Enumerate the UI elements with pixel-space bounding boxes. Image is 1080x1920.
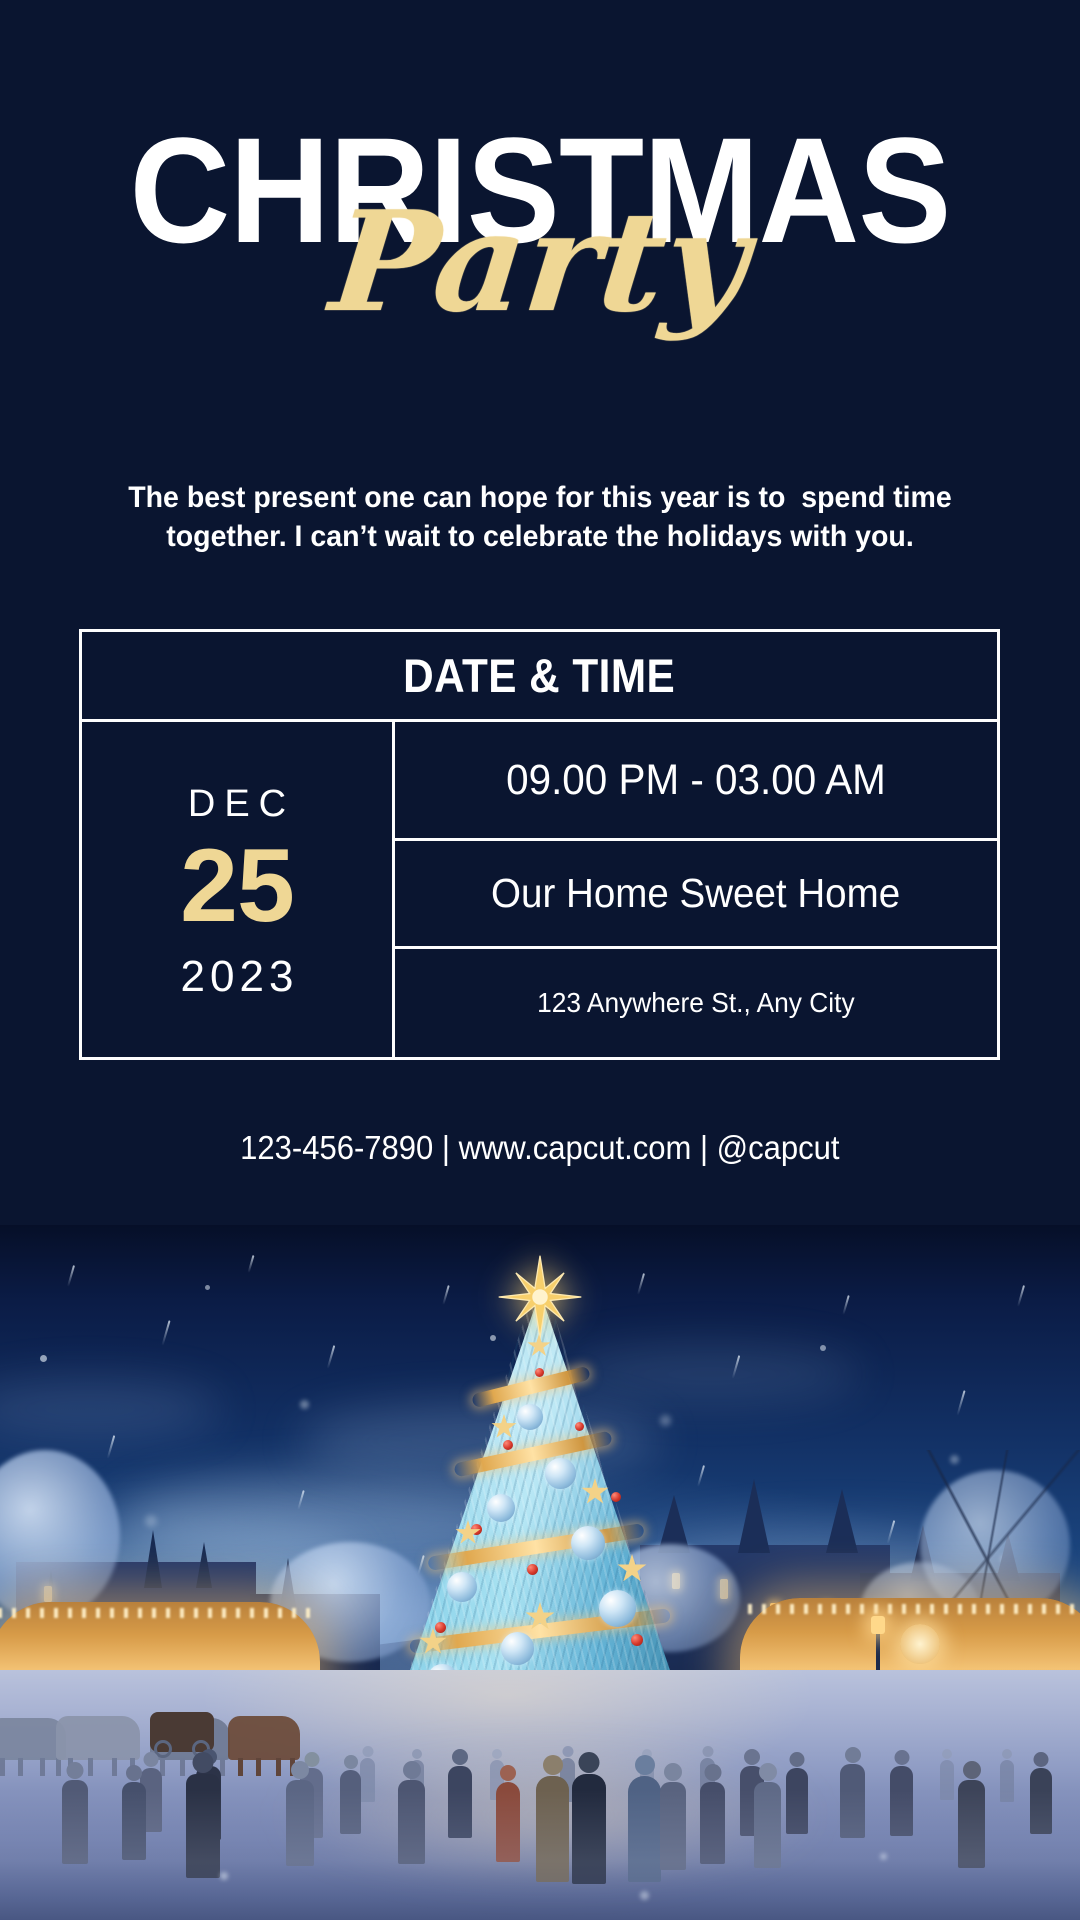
contact-line: 123-456-7890 | www.capcut.com | @capcut <box>0 1128 1080 1168</box>
date-month: DEC <box>179 782 295 826</box>
snowflake <box>40 1355 47 1362</box>
manor-turret <box>738 1479 770 1553</box>
date-time-table-header-label: DATE & TIME <box>403 648 675 703</box>
date-time-table-header: DATE & TIME <box>82 632 997 722</box>
venue-label: Our Home Sweet Home <box>491 870 900 917</box>
tree-bauble <box>599 1590 636 1627</box>
venue-cell: Our Home Sweet Home <box>395 841 997 949</box>
detail-cells: 09.00 PM - 03.00 AM Our Home Sweet Home … <box>395 722 997 1057</box>
tree-berry <box>611 1492 621 1502</box>
date-day: 25 <box>180 832 294 940</box>
tree-berry <box>503 1440 513 1450</box>
date-time-table-body: DEC 25 2023 09.00 PM - 03.00 AM Our Home… <box>82 722 997 1057</box>
intro-paragraph: The best present one can hope for this y… <box>113 478 968 556</box>
time-label: 09.00 PM - 03.00 AM <box>506 756 886 805</box>
pavilion-fairy-lights <box>748 1604 1080 1614</box>
address-cell: 123 Anywhere St., Any City <box>395 949 997 1057</box>
poster-text-section: CHRISTMAS Party The best present one can… <box>0 0 1080 1225</box>
tree-berry <box>631 1634 643 1646</box>
tree-star-topper-icon <box>497 1254 583 1340</box>
tree-berry <box>575 1422 584 1431</box>
church-spire <box>144 1530 162 1588</box>
tree-berry <box>535 1368 544 1377</box>
manor-turret <box>826 1489 858 1553</box>
street-lamp-light <box>871 1616 885 1634</box>
snowflake <box>205 1285 210 1290</box>
tree-bauble <box>517 1404 543 1430</box>
christmas-scene-image <box>0 1225 1080 1920</box>
snow-sheen <box>0 1790 1080 1920</box>
contact-label: 123-456-7890 | www.capcut.com | @capcut <box>240 1128 839 1168</box>
church-spire <box>196 1542 212 1588</box>
snowflake <box>220 1872 228 1880</box>
tree-bauble <box>545 1458 576 1489</box>
date-time-table: DATE & TIME DEC 25 2023 09.00 PM - 03.00… <box>79 629 1000 1060</box>
tree-bauble <box>447 1572 477 1602</box>
address-label: 123 Anywhere St., Any City <box>537 987 854 1019</box>
snowflake <box>300 1400 309 1409</box>
pavilion-clock <box>900 1624 940 1664</box>
tree-bauble <box>487 1494 515 1522</box>
snowflake <box>820 1345 826 1351</box>
title-party-script: Party <box>0 193 1080 331</box>
date-year: 2023 <box>176 952 299 1002</box>
poster-title: CHRISTMAS Party <box>0 115 1080 345</box>
snowflake <box>880 1853 887 1860</box>
tree-bauble <box>571 1526 605 1560</box>
tree-berry <box>435 1622 446 1633</box>
poster-canvas: CHRISTMAS Party The best present one can… <box>0 0 1080 1920</box>
tree-berry <box>527 1564 538 1575</box>
time-cell: 09.00 PM - 03.00 AM <box>395 722 997 841</box>
snowflake <box>640 1891 649 1900</box>
date-cell: DEC 25 2023 <box>82 722 395 1057</box>
pavilion-fairy-lights <box>0 1608 312 1618</box>
